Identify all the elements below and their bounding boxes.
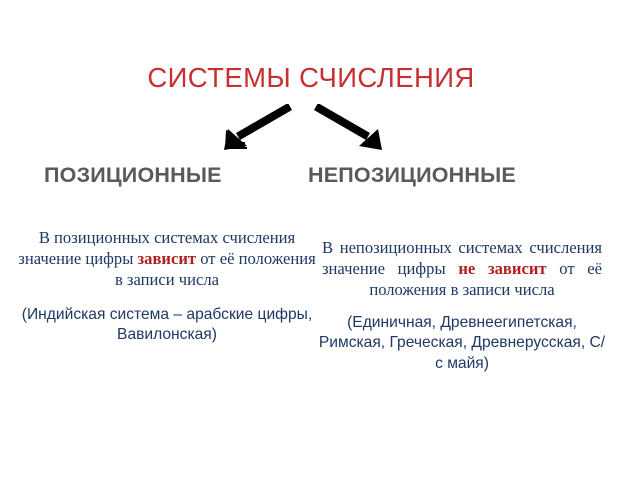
spacer-right xyxy=(316,301,608,313)
definition-nonpositional-highlight: не зависит xyxy=(458,259,546,278)
heading-nonpositional: НЕПОЗИЦИОННЫЕ xyxy=(308,163,516,188)
heading-positional: ПОЗИЦИОННЫЕ xyxy=(44,163,222,188)
column-positional: В позиционных системах счисления значени… xyxy=(18,228,316,346)
definition-positional-highlight: зависит xyxy=(138,249,197,268)
arrow-group xyxy=(0,104,622,156)
definition-nonpositional: В непозиционных системах счисления значе… xyxy=(316,238,608,301)
arrow-down-left-icon xyxy=(224,104,292,150)
examples-nonpositional: (Единичная, Древнеегипетская, Римская, Г… xyxy=(316,313,608,375)
column-headings: ПОЗИЦИОННЫЕ НЕПОЗИЦИОННЫЕ xyxy=(0,163,622,197)
slide-canvas: СИСТЕМЫ СЧИСЛЕНИЯ ПОЗИЦИОННЫЕ НЕПОЗИЦИОН… xyxy=(0,0,622,480)
definition-positional: В позиционных системах счисления значени… xyxy=(18,228,316,291)
page-title: СИСТЕМЫ СЧИСЛЕНИЯ xyxy=(0,62,622,94)
spacer-left xyxy=(18,291,316,305)
examples-positional: (Индийская система – арабские цифры, Вав… xyxy=(18,305,316,346)
column-nonpositional: В непозиционных системах счисления значе… xyxy=(316,238,608,375)
arrow-down-right-icon xyxy=(314,104,382,150)
